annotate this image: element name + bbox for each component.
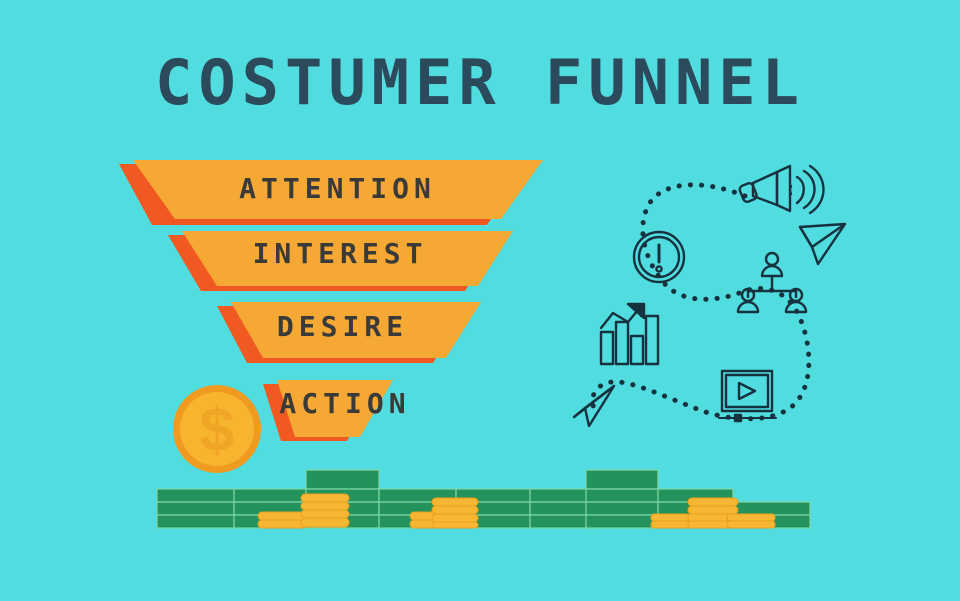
people-network-icon	[738, 253, 806, 312]
bar-chart-growth-icon	[601, 304, 658, 364]
paper-plane-icon	[800, 224, 845, 264]
megaphone-icon	[739, 166, 824, 213]
video-player-icon	[719, 371, 776, 421]
marketing-icon-cluster	[0, 0, 960, 601]
poster-canvas: COSTUMER FUNNEL ATTENTION INTEREST DESIR…	[0, 0, 960, 601]
dotted-path	[593, 185, 809, 419]
